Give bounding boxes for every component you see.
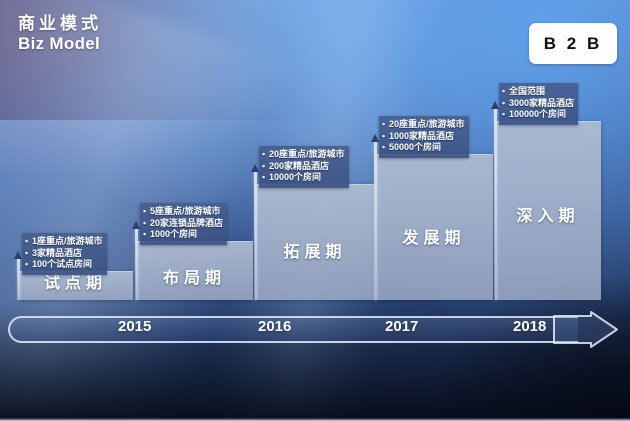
stage-bullet-item: •全国范围	[502, 86, 574, 98]
stage-marker-line	[374, 141, 377, 300]
bullet-dot-icon: •	[502, 98, 509, 110]
bullet-dot-icon: •	[382, 119, 389, 131]
bullet-dot-icon: •	[502, 109, 509, 121]
stage-bullet-item: •1座重点/旅游城市	[25, 236, 103, 248]
bullet-dot-icon: •	[143, 206, 150, 218]
stage-bullet-item: •200家精品酒店	[262, 161, 345, 173]
stage-bullet-block: •1座重点/旅游城市•3家精品酒店•100个试点房间	[22, 233, 107, 275]
stage-3: 拓展期•20座重点/旅游城市•200家精品酒店•10000个房间	[241, 171, 375, 300]
stage-bullet-item: •100000个房间	[502, 109, 574, 121]
stage-bullet-text: 20座重点/旅游城市	[389, 119, 465, 129]
timeline-year-labels: 2015201620172018	[8, 316, 578, 343]
stage-bullet-item: •3家精品酒店	[25, 248, 103, 260]
stage-5: 深入期•全国范围•3000家精品酒店•100000个房间	[481, 108, 601, 300]
slide-canvas: 商业模式 Biz Model B 2 B 试点期•1座重点/旅游城市•3家精品酒…	[0, 0, 630, 421]
bullet-dot-icon: •	[143, 218, 150, 230]
stage-label: 布局期	[136, 264, 253, 288]
stage-marker-line	[135, 228, 138, 300]
stage-label: 拓展期	[255, 238, 375, 262]
stage-bullet-item: •20座重点/旅游城市	[382, 119, 465, 131]
bullet-dot-icon: •	[25, 236, 32, 248]
stage-bullet-block: •全国范围•3000家精品酒店•100000个房间	[499, 83, 578, 125]
stage-bullet-text: 全国范围	[509, 86, 545, 96]
stage-bullet-text: 3000家精品酒店	[509, 98, 574, 108]
stage-bullet-text: 200家精品酒店	[269, 161, 329, 171]
page-title: 商业模式 Biz Model	[18, 14, 102, 53]
stage-bullet-text: 1座重点/旅游城市	[32, 236, 103, 246]
stage-bullet-block: •20座重点/旅游城市•1000家精品酒店•50000个房间	[379, 116, 469, 158]
timeline-axis: 2015201620172018	[8, 311, 622, 348]
stage-bullet-text: 50000个房间	[389, 142, 441, 152]
stage-bullet-text: 1000个房间	[150, 229, 197, 239]
stage-bullet-text: 1000家精品酒店	[389, 131, 454, 141]
stage-bullet-text: 3家精品酒店	[32, 248, 82, 258]
bullet-dot-icon: •	[25, 248, 32, 260]
bullet-dot-icon: •	[262, 172, 269, 184]
stage-bullet-text: 5座重点/旅游城市	[150, 206, 221, 216]
stage-marker-line	[17, 258, 20, 300]
bullet-dot-icon: •	[262, 161, 269, 173]
stage-label: 发展期	[375, 224, 493, 248]
stage-label: 深入期	[495, 202, 601, 226]
stage-bullet-text: 20家连锁品牌酒店	[150, 218, 223, 228]
timeline-year-2018: 2018	[513, 318, 546, 335]
bullet-dot-icon: •	[382, 142, 389, 154]
bullet-dot-icon: •	[262, 149, 269, 161]
timeline-year-2017: 2017	[385, 318, 418, 335]
stage-bullet-block: •5座重点/旅游城市•20家连锁品牌酒店•1000个房间	[140, 203, 227, 245]
bullet-dot-icon: •	[502, 86, 509, 98]
title-english: Biz Model	[18, 34, 102, 54]
bullet-dot-icon: •	[143, 229, 150, 241]
b2b-badge: B 2 B	[529, 23, 617, 64]
stage-2: 布局期•5座重点/旅游城市•20家连锁品牌酒店•1000个房间	[122, 228, 253, 300]
stage-bullet-text: 100000个房间	[509, 109, 566, 119]
bullet-dot-icon: •	[382, 131, 389, 143]
stage-bullet-text: 20座重点/旅游城市	[269, 149, 345, 159]
stage-bullet-block: •20座重点/旅游城市•200家精品酒店•10000个房间	[259, 146, 349, 188]
stage-bullet-text: 100个试点房间	[32, 259, 92, 269]
stage-bullet-item: •100个试点房间	[25, 259, 103, 271]
title-chinese: 商业模式	[18, 14, 102, 34]
stage-bullet-item: •1000个房间	[143, 229, 223, 241]
stage-bullet-item: •20座重点/旅游城市	[262, 149, 345, 161]
stage-bullet-item: •3000家精品酒店	[502, 98, 574, 110]
stage-marker-line	[494, 108, 497, 300]
stage-bullet-item: •5座重点/旅游城市	[143, 206, 223, 218]
timeline-year-2016: 2016	[258, 318, 291, 335]
stage-bullet-item: •1000家精品酒店	[382, 131, 465, 143]
stage-bullet-text: 10000个房间	[269, 172, 321, 182]
stage-bullet-item: •10000个房间	[262, 172, 345, 184]
stage-marker-line	[254, 171, 257, 300]
stage-1: 试点期•1座重点/旅游城市•3家精品酒店•100个试点房间	[4, 258, 133, 300]
timeline-year-2015: 2015	[118, 318, 151, 335]
bullet-dot-icon: •	[25, 259, 32, 271]
stage-bullet-item: •20家连锁品牌酒店	[143, 218, 223, 230]
stage-4: 发展期•20座重点/旅游城市•1000家精品酒店•50000个房间	[361, 141, 493, 300]
stage-bullet-item: •50000个房间	[382, 142, 465, 154]
